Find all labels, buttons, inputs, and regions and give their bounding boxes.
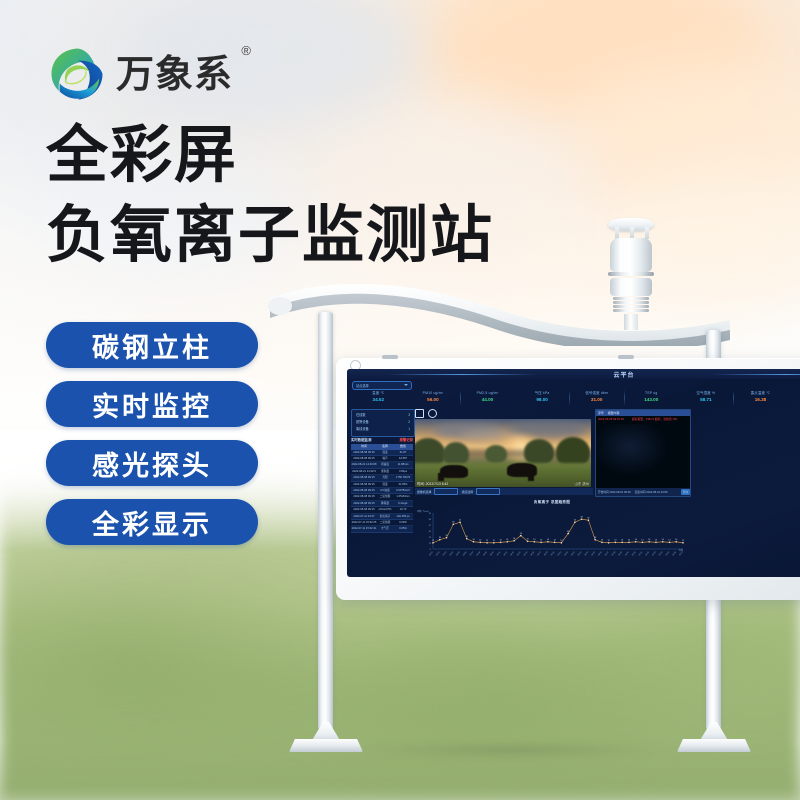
headline-line-2: 负氧离子监测站 xyxy=(46,204,494,266)
screen-content: 云平台 管理员 | 退出 站点选择 温度 ℃34.52PM10 ug/m³56.… xyxy=(347,369,800,577)
svg-text:08-03: 08-03 xyxy=(443,551,448,556)
svg-text:08-24: 08-24 xyxy=(585,551,590,556)
alarm-row[interactable]: 2022-08-08 09:15:00 超标报警：PM2.5 超标，当前值 15… xyxy=(596,416,690,423)
svg-text:08-10: 08-10 xyxy=(490,551,495,556)
radiation-shield-fin xyxy=(613,309,649,312)
video-watermark: 山东 滨州 xyxy=(574,481,589,486)
table-cell: 负氧离子 xyxy=(377,514,393,519)
svg-text:08-26: 08-26 xyxy=(598,551,603,556)
registered-trademark-icon: ® xyxy=(241,43,251,58)
table-cell: 2022-07-11 04:47 xyxy=(351,514,377,519)
svg-text:13: 13 xyxy=(621,540,623,542)
svg-text:13: 13 xyxy=(655,540,657,542)
svg-text:浓度 (个/cm³): 浓度 (个/cm³) xyxy=(417,509,429,513)
svg-text:09-06: 09-06 xyxy=(672,551,677,556)
channel-select-label: 通道选择 xyxy=(461,490,473,494)
svg-text:47: 47 xyxy=(429,525,432,527)
station-select-label: 站点选择 xyxy=(356,383,369,388)
table-cell: CO浓度 xyxy=(377,488,393,493)
svg-text:08-04: 08-04 xyxy=(449,551,454,556)
svg-text:08-19: 08-19 xyxy=(551,551,556,556)
table-cell: 0.4mg/L xyxy=(393,501,413,506)
metric-item: 信号强度 dbm31.00 xyxy=(569,390,624,407)
table-cell: 2022-08-08 09:15 xyxy=(351,494,377,499)
table-cell: 0.00781mV xyxy=(393,488,413,493)
display-monitor: 云平台 管理员 | 退出 站点选择 温度 ℃34.52PM10 ug/m³56.… xyxy=(336,358,800,600)
table-cell: 2022-08-08 09:15 xyxy=(351,501,377,506)
svg-text:08-14: 08-14 xyxy=(517,551,522,556)
svg-text:08-18: 08-18 xyxy=(544,551,549,556)
svg-text:08-15: 08-15 xyxy=(524,551,529,556)
svg-text:13: 13 xyxy=(601,540,603,542)
table-cell: 31.65% xyxy=(393,482,413,487)
table-cell: 2022-08-08 09:15 xyxy=(351,475,377,480)
svg-text:08-09: 08-09 xyxy=(483,551,488,556)
table-cell: 10.73 xyxy=(393,507,413,512)
metric-value: 98.00 xyxy=(515,396,570,404)
metric-divider xyxy=(406,390,407,406)
svg-text:14: 14 xyxy=(635,539,637,541)
svg-text:56: 56 xyxy=(587,518,589,520)
metric-item: PM10 ug/m³56.00 xyxy=(406,390,461,407)
support-post-left xyxy=(318,312,333,730)
metric-value: 44.00 xyxy=(460,396,515,404)
alarm-col-content: 报警内容 xyxy=(608,411,620,415)
svg-text:13: 13 xyxy=(668,540,670,542)
table-cell: 31.87 xyxy=(393,450,413,455)
svg-text:08-01: 08-01 xyxy=(429,551,434,556)
video-timestamp: 时间: 2022/7/13 6:42 xyxy=(417,481,448,486)
svg-text:58: 58 xyxy=(581,517,583,519)
table-cell: 2022-08-08 09:15 xyxy=(351,507,377,512)
metric-item: 空气湿度 %58.71 xyxy=(679,390,734,407)
metric-value: 16.38 xyxy=(733,396,788,404)
table-header-row: 实时数据监测 报警记录 xyxy=(351,436,413,443)
feature-badge: 实时监控 xyxy=(46,381,258,427)
platform-title: 云平台 xyxy=(347,370,800,379)
metric-value: 48.00 xyxy=(788,396,800,404)
video-controls-bar[interactable]: 摄像机选择 通道选择 xyxy=(415,488,593,495)
svg-text:08-02: 08-02 xyxy=(436,551,441,556)
svg-text:08-30: 08-30 xyxy=(625,551,630,556)
metric-value: 34.52 xyxy=(351,396,406,404)
left-panel: 在线数3报警设备2离线设备1 实时数据监测 报警记录 时间名称数值 2022-0… xyxy=(351,409,413,551)
alarm-col-index: 序号 xyxy=(598,411,604,415)
svg-text:12: 12 xyxy=(486,540,488,542)
metric-item: 噪声 db48.00 xyxy=(788,390,800,407)
table-cell: 2022-08-08 09:15 xyxy=(351,482,377,487)
table-cell: 0.05% xyxy=(393,526,413,531)
svg-text:09-01: 09-01 xyxy=(639,551,644,556)
svg-text:13: 13 xyxy=(614,540,616,542)
status-label: 离线设备 xyxy=(356,426,369,433)
alarm-end-time: 结束时间 2022-08-31 23:59 xyxy=(635,490,668,494)
svg-text:15: 15 xyxy=(527,539,529,541)
svg-text:30: 30 xyxy=(567,531,569,533)
radiation-shield-fin xyxy=(613,297,649,300)
record-icon[interactable] xyxy=(428,409,437,418)
svg-text:12: 12 xyxy=(560,540,562,542)
table-row[interactable]: 2022-07-11 15:32:41大气压0.05% xyxy=(351,526,413,532)
table-cell: 光照 xyxy=(377,475,393,480)
alarm-query-button[interactable]: 查询 xyxy=(681,489,690,494)
alarm-footer[interactable]: 开始时间 2022-08-01 00:00 结束时间 2022-08-31 23… xyxy=(596,488,691,496)
svg-text:52: 52 xyxy=(574,520,576,522)
svg-text:14: 14 xyxy=(675,539,677,541)
feature-badge-list: 碳钢立柱 实时监控 感光探头 全彩显示 xyxy=(46,322,258,545)
metric-divider xyxy=(460,390,461,406)
metric-item: PM2.5 ug/m³44.00 xyxy=(460,390,515,407)
svg-text:12: 12 xyxy=(432,540,434,542)
svg-text:13: 13 xyxy=(641,540,643,542)
metric-divider xyxy=(515,390,516,406)
table-cell: 大气压 xyxy=(377,526,393,531)
table-cell: 1750.78x79 xyxy=(393,475,413,480)
svg-text:26: 26 xyxy=(520,533,522,535)
svg-text:14: 14 xyxy=(547,539,549,541)
svg-text:16: 16 xyxy=(513,538,515,540)
bezel-bracket xyxy=(618,355,634,359)
svg-text:08-16: 08-16 xyxy=(530,551,535,556)
svg-text:18: 18 xyxy=(439,537,441,539)
table-cell: 3.09μs xyxy=(393,469,413,474)
svg-text:08-11: 08-11 xyxy=(497,551,502,556)
svg-text:08-28: 08-28 xyxy=(612,551,617,556)
svg-text:23: 23 xyxy=(429,537,432,539)
video-tree xyxy=(485,445,507,463)
brand-logo: 万象系 ® xyxy=(48,45,233,103)
svg-text:14: 14 xyxy=(506,539,508,541)
sensor-mid-body xyxy=(610,278,652,296)
realtime-data-table[interactable]: 时间名称数值 2022-08-08 09:15温度31.872022-08-08… xyxy=(351,444,413,551)
svg-text:13: 13 xyxy=(540,540,542,542)
metric-divider xyxy=(569,390,570,406)
metric-item: 气压 kPa98.00 xyxy=(515,390,570,407)
sensor-ring xyxy=(608,272,654,276)
status-row: 离线设备1 xyxy=(352,426,414,433)
table-cell: 2022-08-21 14:32:9 xyxy=(351,469,377,474)
table-cell: 湿度 xyxy=(377,482,393,487)
trend-chart-panel: 负氧离子 浓度趋势图 01223354758701208-011808-0222… xyxy=(415,499,689,573)
alarm-empty-area xyxy=(596,424,690,484)
svg-text:35: 35 xyxy=(429,531,432,533)
wave-canopy xyxy=(268,284,732,346)
alarm-text: 超标报警：PM2.5 超标，当前值 156 xyxy=(632,417,677,421)
svg-text:09-03: 09-03 xyxy=(652,551,657,556)
radiation-shield-fin xyxy=(613,305,649,308)
metric-divider xyxy=(624,390,625,406)
svg-text:14: 14 xyxy=(533,539,535,541)
svg-text:20: 20 xyxy=(466,536,468,538)
table-cell: 11.88m/s xyxy=(393,462,413,467)
sensor-body xyxy=(610,238,652,272)
alarm-panel: 序号 报警内容 2022-08-08 09:15:00 超标报警：PM2.5 超… xyxy=(595,409,691,497)
camera-select-label: 摄像机选择 xyxy=(417,490,431,494)
metric-value: 58.71 xyxy=(679,396,734,404)
brand-name: 万象系 xyxy=(116,55,233,93)
feature-badge: 全彩显示 xyxy=(46,499,258,545)
table-cell: 累积量 xyxy=(377,469,393,474)
status-label: 在线数 xyxy=(356,412,366,419)
metric-divider xyxy=(679,390,680,406)
svg-text:08-05: 08-05 xyxy=(456,551,461,556)
table-cell: 2022-08-08 09:15 xyxy=(351,488,377,493)
svg-text:48: 48 xyxy=(452,522,454,524)
svg-text:08-06: 08-06 xyxy=(463,551,468,556)
video-cattle-head xyxy=(528,472,534,481)
video-cattle-head xyxy=(438,473,444,481)
bezel-bracket xyxy=(382,355,398,359)
chart-plot-area: 01223354758701208-011808-022208-034808-0… xyxy=(415,507,689,573)
table-cell: 二氧化碳 xyxy=(377,494,393,499)
camera-feed[interactable]: 时间: 2022/7/13 6:42 山东 滨州 xyxy=(415,419,591,487)
svg-text:12: 12 xyxy=(608,540,610,542)
metric-value: 56.00 xyxy=(406,396,461,404)
svg-text:13: 13 xyxy=(554,540,556,542)
chevron-down-icon xyxy=(404,384,408,386)
svg-text:13: 13 xyxy=(500,540,502,542)
table-cell: 102.256 ps xyxy=(393,514,413,519)
table-cell: 42.587 xyxy=(393,456,413,461)
status-value: 1 xyxy=(408,426,410,433)
svg-text:22: 22 xyxy=(445,535,447,537)
video-toolbar[interactable] xyxy=(415,409,437,418)
svg-text:14: 14 xyxy=(648,539,650,541)
alarm-time: 2022-08-08 09:15:00 xyxy=(598,417,628,421)
feature-badge: 感光探头 xyxy=(46,440,258,486)
headline-line-1: 全彩屏 xyxy=(46,124,238,186)
station-select[interactable]: 站点选择 xyxy=(352,381,412,390)
svg-text:08-13: 08-13 xyxy=(510,551,515,556)
svg-text:09-02: 09-02 xyxy=(645,551,650,556)
device-status-box: 在线数3报警设备2离线设备1 xyxy=(351,409,415,437)
table-cell: 2022-08-08 09:15 xyxy=(351,456,377,461)
alarm-start-time: 开始时间 2022-08-01 00:00 xyxy=(598,490,631,494)
table-cell: 2022-07-11 15:32:25 xyxy=(351,520,377,525)
metric-value: 31.00 xyxy=(569,396,624,404)
svg-text:18: 18 xyxy=(594,537,596,539)
table-cell: 噪声 xyxy=(377,456,393,461)
svg-text:52: 52 xyxy=(459,520,461,522)
svg-text:08-23: 08-23 xyxy=(578,551,583,556)
svg-text:14: 14 xyxy=(662,539,664,541)
svg-text:13: 13 xyxy=(628,540,630,542)
svg-text:08-20: 08-20 xyxy=(558,551,563,556)
alarm-records-link[interactable]: 报警记录 xyxy=(399,437,413,442)
feature-badge: 碳钢立柱 xyxy=(46,322,258,368)
table-cell: 温度 xyxy=(377,450,393,455)
svg-text:08-07: 08-07 xyxy=(470,551,475,556)
svg-text:09-04: 09-04 xyxy=(659,551,664,556)
svg-text:08-29: 08-29 xyxy=(618,551,623,556)
table-cell: 0.09% xyxy=(393,520,413,525)
camera-select[interactable] xyxy=(434,488,458,495)
table-cell: 风速度 xyxy=(377,462,393,467)
svg-text:时间: 时间 xyxy=(679,548,683,552)
globe-swirl-icon xyxy=(48,45,106,103)
product-marketing-banner: 万象系 ® 全彩屏 负氧离子监测站 碳钢立柱 实时监控 感光探头 全彩显示 xyxy=(0,0,800,800)
svg-text:08-12: 08-12 xyxy=(503,551,508,556)
table-cell: ozbon07% xyxy=(377,507,393,512)
metric-value: 143.00 xyxy=(624,396,679,404)
svg-text:12: 12 xyxy=(429,543,432,545)
radiation-shield-fin xyxy=(613,301,649,304)
status-row: 报警设备2 xyxy=(352,419,414,426)
table-cell: 2022-08-21 14:40:08 xyxy=(351,462,377,467)
table-cell: 二氧化硫 xyxy=(377,520,393,525)
svg-text:14: 14 xyxy=(472,539,474,541)
video-tree xyxy=(524,439,554,465)
status-value: 2 xyxy=(408,419,410,426)
video-panel: 时间: 2022/7/13 6:42 山东 滨州 摄像机选择 通道选择 xyxy=(415,409,591,495)
status-label: 报警设备 xyxy=(356,419,369,426)
svg-text:08-08: 08-08 xyxy=(476,551,481,556)
ultrasonic-weather-sensor-icon xyxy=(600,218,662,326)
metric-divider xyxy=(788,390,789,406)
status-value: 3 xyxy=(408,412,410,419)
metric-item: 温度 ℃34.52 xyxy=(351,390,406,407)
table-cell: 降雨量 xyxy=(377,501,393,506)
svg-text:08-17: 08-17 xyxy=(537,551,542,556)
table-cell: 2022-07-11 15:32:41 xyxy=(351,526,377,531)
realtime-data-heading: 实时数据监测 xyxy=(351,437,371,442)
metric-item: TSP ug143.00 xyxy=(624,390,679,407)
metric-item: 露点温度 ℃16.38 xyxy=(733,390,788,407)
svg-text:12: 12 xyxy=(493,540,495,542)
ground-shadow xyxy=(300,742,720,758)
sensor-mast xyxy=(624,314,638,330)
svg-text:08-25: 08-25 xyxy=(591,551,596,556)
svg-text:58: 58 xyxy=(429,519,432,521)
status-row: 在线数3 xyxy=(352,412,414,419)
svg-text:70: 70 xyxy=(429,513,432,515)
svg-text:09-05: 09-05 xyxy=(666,551,671,556)
table-cell: 1.05x63nm xyxy=(393,494,413,499)
svg-text:12: 12 xyxy=(682,540,684,542)
table-cell: 2022-08-08 09:15 xyxy=(351,450,377,455)
chart-title: 负氧离子 浓度趋势图 xyxy=(415,499,689,506)
sensor-arm xyxy=(645,227,649,239)
svg-text:08-31: 08-31 xyxy=(632,551,637,556)
metric-divider xyxy=(733,390,734,406)
svg-text:08-22: 08-22 xyxy=(571,551,576,556)
svg-text:09-07: 09-07 xyxy=(679,551,684,556)
snapshot-icon[interactable] xyxy=(415,409,424,418)
svg-text:0: 0 xyxy=(430,549,432,551)
svg-text:13: 13 xyxy=(479,540,481,542)
svg-text:08-27: 08-27 xyxy=(605,551,610,556)
svg-text:08-21: 08-21 xyxy=(564,551,569,556)
channel-select[interactable] xyxy=(476,488,500,495)
